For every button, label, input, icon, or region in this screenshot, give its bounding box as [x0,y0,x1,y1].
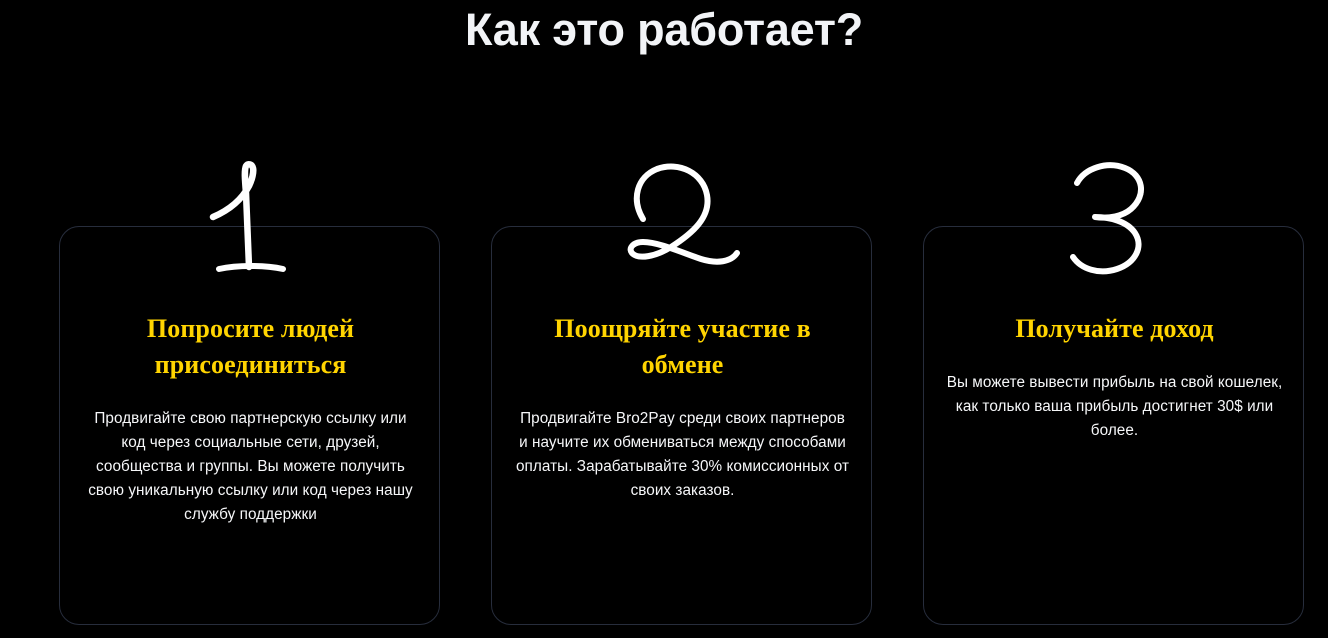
script-numeral-three-icon [924,159,1305,279]
step-body-text: Продвигайте Bro2Pay среди своих партнеро… [514,407,851,503]
step-heading: Получайте доход [950,311,1279,347]
step-card-2: Поощряйте участие в обмене Продвигайте B… [491,226,872,625]
page-title: Как это работает? [0,4,1328,56]
step-body-text: Вы можете вывести прибыль на свой кошеле… [946,371,1283,443]
step-heading: Попросите людей присоединиться [86,311,415,383]
step-heading: Поощряйте участие в обмене [518,311,847,383]
step-card-3: Получайте доход Вы можете вывести прибыл… [923,226,1304,625]
step-body-text: Продвигайте свою партнерскую ссылку или … [82,407,419,527]
how-it-works-section: Как это работает? Попросите людей присое… [0,0,1328,638]
step-card-1: Попросите людей присоединиться Продвигай… [59,226,440,625]
steps-card-row: Попросите людей присоединиться Продвигай… [59,226,1304,626]
script-numeral-one-icon [60,159,441,279]
script-numeral-two-icon [492,159,873,279]
